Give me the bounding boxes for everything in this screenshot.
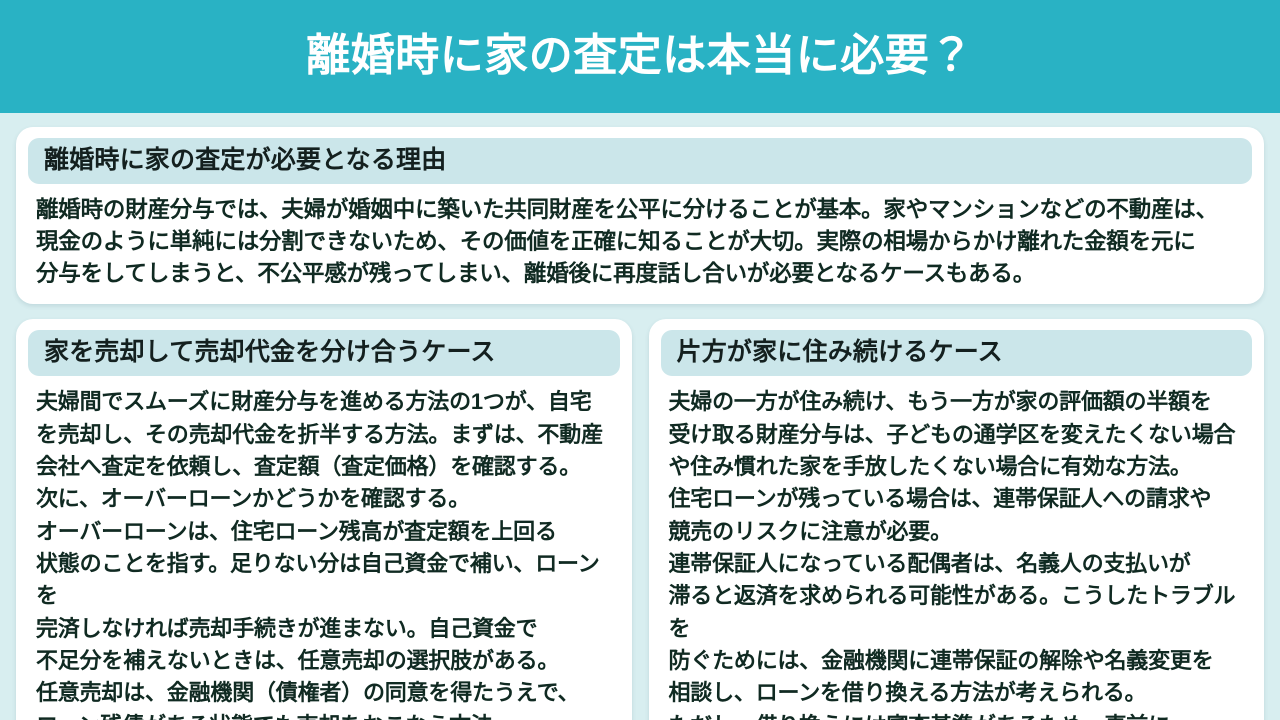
text-line: 防ぐためには、金融機関に連帯保証の解除や名義変更を — [669, 645, 1247, 677]
card-sell-banner: 家を売却して売却代金を分け合うケース — [28, 330, 620, 376]
text-line: 会社へ査定を依頼し、査定額（査定価格）を確認する。 — [36, 451, 614, 483]
text-line: 離婚時の財産分与では、夫婦が婚姻中に築いた共同財産を公平に分けることが基本。家や… — [36, 194, 1246, 226]
text-line: 受け取る財産分与は、子どもの通学区を変えたくない場合 — [669, 419, 1247, 451]
text-line: 滞ると返済を求められる可能性がある。こうしたトラブルを — [669, 580, 1247, 645]
card-sell: 家を売却して売却代金を分け合うケース 夫婦間でスムーズに財産分与を進める方法の1… — [16, 319, 632, 720]
text-line: 競売のリスクに注意が必要。 — [669, 516, 1247, 548]
card-stay-body: 夫婦の一方が住み続け、もう一方が家の評価額の半額を 受け取る財産分与は、子どもの… — [661, 384, 1253, 720]
content-area: 離婚時に家の査定が必要となる理由 離婚時の財産分与では、夫婦が婚姻中に築いた共同… — [0, 113, 1280, 720]
text-line: や住み慣れた家を手放したくない場合に有効な方法。 — [669, 451, 1247, 483]
text-line: 相談し、ローンを借り換える方法が考えられる。 — [669, 677, 1247, 709]
card-sell-title: 家を売却して売却代金を分け合うケース — [44, 337, 604, 368]
card-sell-body: 夫婦間でスムーズに財産分与を進める方法の1つが、自宅 を売却し、その売却代金を折… — [28, 384, 620, 720]
card-stay-banner: 片方が家に住み続けるケース — [661, 330, 1253, 376]
card-reason-body: 離婚時の財産分与では、夫婦が婚姻中に築いた共同財産を公平に分けることが基本。家や… — [28, 192, 1252, 290]
text-line: ローン残債がある状態でも売却をおこなう方法。 — [36, 710, 614, 720]
text-line: 不足分を補えないときは、任意売却の選択肢がある。 — [36, 645, 614, 677]
slide: 離婚時に家の査定は本当に必要？ 離婚時に家の査定が必要となる理由 離婚時の財産分… — [0, 0, 1280, 720]
text-line: 夫婦間でスムーズに財産分与を進める方法の1つが、自宅 — [36, 386, 614, 418]
text-line: オーバーローンは、住宅ローン残高が査定額を上回る — [36, 516, 614, 548]
card-reason: 離婚時に家の査定が必要となる理由 離婚時の財産分与では、夫婦が婚姻中に築いた共同… — [16, 127, 1264, 304]
text-line: 連帯保証人になっている配偶者は、名義人の支払いが — [669, 548, 1247, 580]
text-line: 次に、オーバーローンかどうかを確認する。 — [36, 483, 614, 515]
card-stay-title: 片方が家に住み続けるケース — [677, 337, 1237, 368]
card-stay: 片方が家に住み続けるケース 夫婦の一方が住み続け、もう一方が家の評価額の半額を … — [649, 319, 1265, 720]
text-line: 夫婦の一方が住み続け、もう一方が家の評価額の半額を — [669, 386, 1247, 418]
text-line: 分与をしてしまうと、不公平感が残ってしまい、離婚後に再度話し合いが必要となるケー… — [36, 258, 1246, 290]
text-line: ただし、借り換えには審査基準があるため、事前に — [669, 710, 1247, 720]
page-title: 離婚時に家の査定は本当に必要？ — [306, 32, 974, 80]
card-reason-title: 離婚時に家の査定が必要となる理由 — [44, 145, 1236, 176]
text-line: 住宅ローンが残っている場合は、連帯保証人への請求や — [669, 483, 1247, 515]
text-line: 現金のように単純には分割できないため、その価値を正確に知ることが大切。実際の相場… — [36, 226, 1246, 258]
card-columns: 家を売却して売却代金を分け合うケース 夫婦間でスムーズに財産分与を進める方法の1… — [16, 319, 1264, 720]
text-line: 完済しなければ売却手続きが進まない。自己資金で — [36, 613, 614, 645]
text-line: 任意売却は、金融機関（債権者）の同意を得たうえで、 — [36, 677, 614, 709]
text-line: 状態のことを指す。足りない分は自己資金で補い、ローンを — [36, 548, 614, 613]
card-reason-banner: 離婚時に家の査定が必要となる理由 — [28, 138, 1252, 184]
text-line: を売却し、その売却代金を折半する方法。まずは、不動産 — [36, 419, 614, 451]
slide-header: 離婚時に家の査定は本当に必要？ — [0, 0, 1280, 113]
